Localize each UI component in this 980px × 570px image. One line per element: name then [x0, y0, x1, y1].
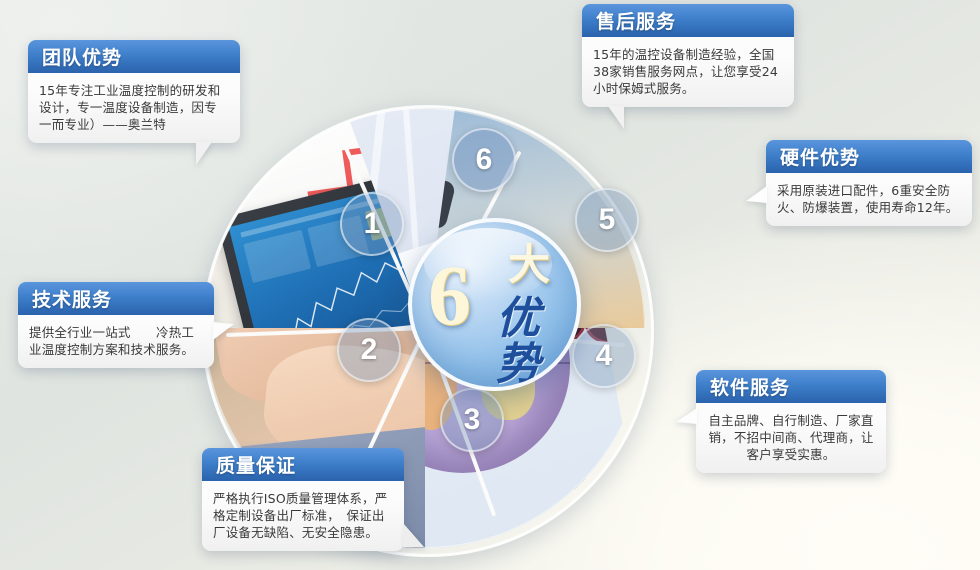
- callout-after-sales[interactable]: 售后服务 15年的温控设备制造经验，全国38家销售服务网点，让您享受24小时保姆…: [582, 4, 794, 107]
- callout-quality[interactable]: 质量保证 严格执行ISO质量管理体系，严格定制设备出厂标准， 保证出厂设备无缺陷…: [202, 448, 404, 551]
- callout-tail: [213, 322, 234, 340]
- callout-header: 技术服务: [18, 282, 214, 315]
- callout-tail: [746, 186, 767, 203]
- callout-title: 技术服务: [32, 285, 112, 312]
- segment-number-3[interactable]: 3: [440, 388, 504, 452]
- segment-number-1[interactable]: 1: [340, 192, 404, 256]
- segment-number-5[interactable]: 5: [575, 188, 639, 252]
- callout-header: 软件服务: [696, 370, 886, 403]
- callout-software[interactable]: 软件服务 自主品牌、自行制造、厂家直销，不招中间商、代理商，让客户享受实惠。: [696, 370, 886, 473]
- badge-big-char: 大: [508, 244, 550, 286]
- callout-title: 质量保证: [216, 451, 296, 478]
- callout-title: 软件服务: [710, 373, 790, 400]
- infographic-canvas: 1 2 3 4 5 6 6 大 优势 团队优势 15年专注工业温度控制的研发和设…: [0, 0, 980, 570]
- center-badge[interactable]: 6 大 优势: [408, 218, 581, 391]
- callout-body: 15年专注工业温度控制的研发和设计，专一温度设备制造，因专一而专业）——奥兰特: [28, 73, 240, 143]
- callout-body: 采用原装进口配件，6重安全防火、防爆装置，使用寿命12年。: [766, 173, 972, 226]
- callout-body: 15年的温控设备制造经验，全国38家销售服务网点，让您享受24小时保姆式服务。: [582, 37, 794, 107]
- segment-number-6[interactable]: 6: [452, 128, 516, 192]
- callout-tail: [608, 106, 624, 129]
- callout-technical-service[interactable]: 技术服务 提供全行业一站式 冷热工业温度控制方案和技术服务。: [18, 282, 214, 368]
- segment-number-2[interactable]: 2: [337, 318, 401, 382]
- callout-body: 自主品牌、自行制造、厂家直销，不招中间商、代理商，让客户享受实惠。: [696, 403, 886, 473]
- segment-number-4[interactable]: 4: [572, 324, 636, 388]
- callout-team-advantage[interactable]: 团队优势 15年专注工业温度控制的研发和设计，专一温度设备制造，因专一而专业）—…: [28, 40, 240, 143]
- callout-tail: [403, 523, 424, 547]
- callout-title: 硬件优势: [780, 143, 860, 170]
- callout-body: 严格执行ISO质量管理体系，严格定制设备出厂标准， 保证出厂设备无缺陷、无安全隐…: [202, 481, 404, 551]
- callout-header: 售后服务: [582, 4, 794, 37]
- callout-tail: [196, 142, 212, 165]
- badge-advantage: 优势: [496, 296, 577, 388]
- callout-header: 硬件优势: [766, 140, 972, 173]
- callout-title: 售后服务: [596, 7, 676, 34]
- callout-header: 质量保证: [202, 448, 404, 481]
- callout-tail: [676, 408, 697, 424]
- badge-number: 6: [428, 252, 471, 338]
- callout-hardware[interactable]: 硬件优势 采用原装进口配件，6重安全防火、防爆装置，使用寿命12年。: [766, 140, 972, 226]
- callout-header: 团队优势: [28, 40, 240, 73]
- callout-body: 提供全行业一站式 冷热工业温度控制方案和技术服务。: [18, 315, 214, 368]
- callout-title: 团队优势: [42, 43, 122, 70]
